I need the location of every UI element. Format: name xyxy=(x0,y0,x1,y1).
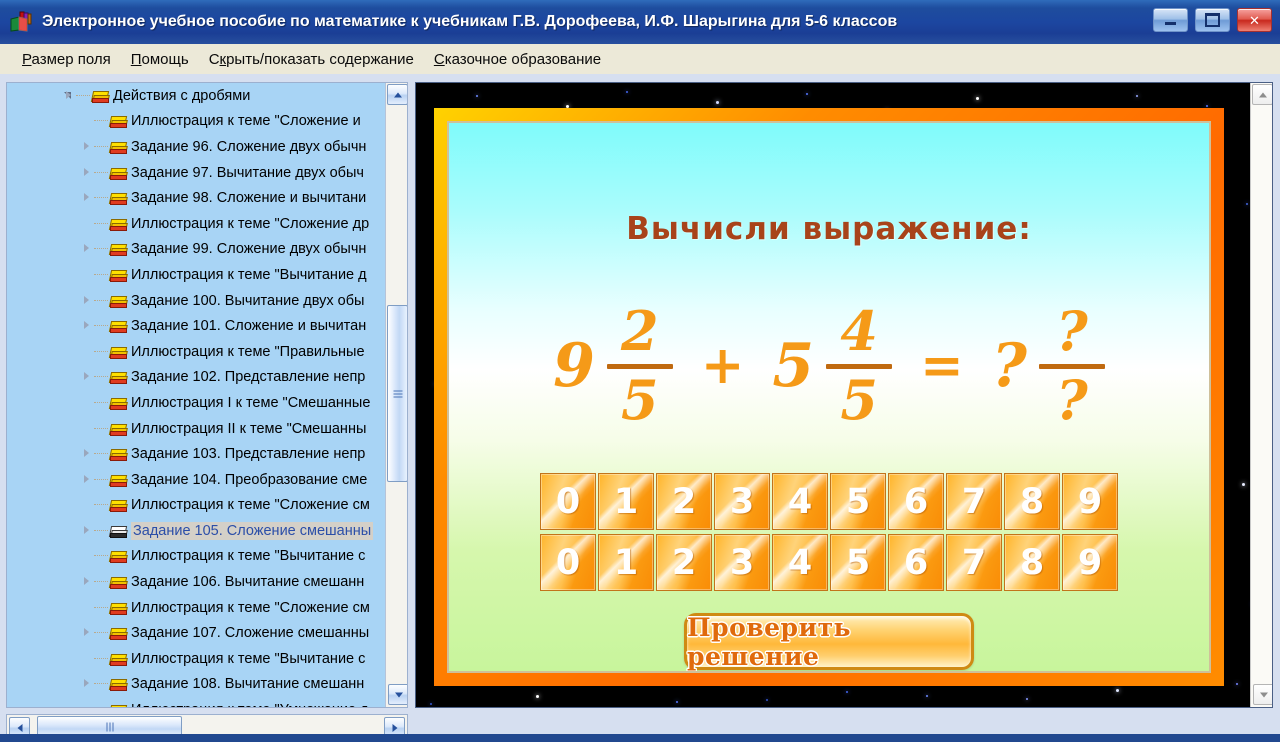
tree-scroll-thumb[interactable] xyxy=(387,305,408,482)
expander-collapsed-icon[interactable] xyxy=(81,192,93,204)
tree-item[interactable]: Задание 107. Сложение смешанны xyxy=(7,620,387,646)
book-icon xyxy=(109,447,126,461)
digit-key-5[interactable]: 5 xyxy=(830,534,886,591)
open-book-icon xyxy=(109,524,126,538)
digit-key-1[interactable]: 1 xyxy=(598,534,654,591)
book-icon xyxy=(109,166,126,180)
maximize-button[interactable] xyxy=(1195,8,1230,32)
digit-key-0[interactable]: 0 xyxy=(540,473,596,530)
book-icon xyxy=(109,498,126,512)
tree-item[interactable]: Иллюстрация к теме "Вычитание с xyxy=(7,544,387,570)
tree-connector xyxy=(94,632,108,634)
keypad-row: 0123456789 xyxy=(540,473,1118,530)
left-whole-number: 9 xyxy=(547,336,601,396)
left-numerator: 2 xyxy=(621,304,659,359)
expander-placeholder xyxy=(81,115,93,127)
star xyxy=(716,101,719,104)
content-scroll-up-button[interactable] xyxy=(1252,84,1273,105)
tree-item-label: Задание 98. Сложение и вычитани xyxy=(131,190,366,206)
star xyxy=(626,91,628,93)
digit-key-6[interactable]: 6 xyxy=(888,534,944,591)
contents-tree[interactable]: Действия с дробямиИллюстрация к теме "Сл… xyxy=(7,83,387,707)
lesson-title: Вычисли выражение: xyxy=(449,211,1209,247)
tree-connector xyxy=(94,120,108,122)
contents-tree-panel: Действия с дробямиИллюстрация к теме "Сл… xyxy=(6,82,408,708)
expander-placeholder xyxy=(81,653,93,665)
tree-item[interactable]: Задание 103. Представление непр xyxy=(7,441,387,467)
digit-key-0[interactable]: 0 xyxy=(540,534,596,591)
books-icon xyxy=(8,9,34,35)
tree-connector xyxy=(94,376,108,378)
book-icon xyxy=(109,626,126,640)
content-scroll-down-button[interactable] xyxy=(1253,684,1273,705)
close-button[interactable]: ✕ xyxy=(1237,8,1272,32)
expander-placeholder xyxy=(81,423,93,435)
tree-item[interactable]: Иллюстрация к теме "Правильные xyxy=(7,339,387,365)
digit-key-7[interactable]: 7 xyxy=(946,534,1002,591)
tree-item[interactable]: Задание 101. Сложение и вычитан xyxy=(7,313,387,339)
tree-item-label: Задание 108. Вычитание смешанн xyxy=(131,676,364,692)
tree-item-label: Задание 100. Вычитание двух обы xyxy=(131,293,364,309)
tree-connector xyxy=(94,402,108,404)
tree-item[interactable]: Задание 108. Вычитание смешанн xyxy=(7,672,387,698)
expander-placeholder xyxy=(81,269,93,281)
window-body: Действия с дробямиИллюстрация к теме "Сл… xyxy=(0,74,1280,742)
expander-collapsed-icon[interactable] xyxy=(81,371,93,383)
book-icon xyxy=(109,575,126,589)
book-icon xyxy=(109,140,126,154)
star xyxy=(536,695,539,698)
tree-item-label: Иллюстрация к теме "Сложение см xyxy=(131,497,370,513)
tree-item[interactable]: Иллюстрация к теме "Сложение и xyxy=(7,109,387,135)
expander-collapsed-icon[interactable] xyxy=(81,678,93,690)
star xyxy=(976,97,979,100)
digit-key-2[interactable]: 2 xyxy=(656,473,712,530)
star xyxy=(1236,683,1238,685)
digit-key-4[interactable]: 4 xyxy=(772,534,828,591)
tree-item[interactable]: Задание 100. Вычитание двух обы xyxy=(7,288,387,314)
expander-collapsed-icon[interactable] xyxy=(81,627,93,639)
answer-numerator-slot[interactable]: ? xyxy=(1056,304,1088,359)
tree-item-label: Задание 104. Преобразование сме xyxy=(131,472,367,488)
expander-expanded-icon[interactable] xyxy=(63,90,75,102)
tree-item[interactable]: Задание 102. Представление непр xyxy=(7,365,387,391)
digit-key-5[interactable]: 5 xyxy=(830,473,886,530)
tree-item-label: Иллюстрация к теме "Вычитание с xyxy=(131,548,365,564)
tree-item-label: Задание 96. Сложение двух обычн xyxy=(131,139,366,155)
tree-scroll-up-button[interactable] xyxy=(387,84,408,105)
tree-item-label: Иллюстрация к теме "Вычитание д xyxy=(131,267,367,283)
star xyxy=(676,701,678,703)
digit-key-2[interactable]: 2 xyxy=(656,534,712,591)
tree-item-label: Иллюстрация к теме "Вычитание с xyxy=(131,651,365,667)
math-expression: 9 2 5 + 5 4 5 = xyxy=(449,301,1209,431)
tree-item[interactable]: Иллюстрация I к теме "Смешанные xyxy=(7,390,387,416)
expander-collapsed-icon[interactable] xyxy=(81,141,93,153)
tree-connector xyxy=(94,146,108,148)
minimize-button[interactable] xyxy=(1153,8,1188,32)
book-icon xyxy=(109,601,126,615)
tree-item-label: Задание 106. Вычитание смешанн xyxy=(131,574,364,590)
tree-item-label: Иллюстрация к теме "Правильные xyxy=(131,344,365,360)
expander-collapsed-icon[interactable] xyxy=(81,525,93,537)
tree-item[interactable]: Иллюстрация к теме "Умножение д xyxy=(7,697,387,707)
expander-placeholder xyxy=(81,704,93,707)
tree-item[interactable]: Иллюстрация II к теме "Смешанны xyxy=(7,416,387,442)
tree-connector xyxy=(94,351,108,353)
tree-item[interactable]: Задание 98. Сложение и вычитани xyxy=(7,185,387,211)
digit-key-9[interactable]: 9 xyxy=(1062,534,1118,591)
book-icon xyxy=(109,345,126,359)
tree-vertical-scrollbar[interactable] xyxy=(385,83,407,707)
keypad-row: 0123456789 xyxy=(540,534,1118,591)
right-fraction: 4 5 xyxy=(820,304,898,427)
book-icon xyxy=(109,217,126,231)
tree-connector xyxy=(94,223,108,225)
digit-key-1[interactable]: 1 xyxy=(598,473,654,530)
tree-connector xyxy=(94,428,108,430)
digit-key-8[interactable]: 8 xyxy=(1004,534,1060,591)
star xyxy=(1246,203,1248,205)
tree-scroll-down-button[interactable] xyxy=(388,684,408,705)
tree-item[interactable]: Иллюстрация к теме "Сложение др xyxy=(7,211,387,237)
close-icon: ✕ xyxy=(1238,9,1271,31)
tree-connector xyxy=(76,95,90,97)
answer-whole-slot[interactable]: ? xyxy=(986,336,1033,396)
tree-item-label: Задание 101. Сложение и вычитан xyxy=(131,318,366,334)
expander-collapsed-icon[interactable] xyxy=(81,448,93,460)
digit-key-8[interactable]: 8 xyxy=(1004,473,1060,530)
right-whole-number: 5 xyxy=(766,336,820,396)
window-bottom-edge xyxy=(0,734,1280,742)
tree-item-label: Иллюстрация к теме "Сложение и xyxy=(131,113,361,129)
digit-keypad: 01234567890123456789 xyxy=(449,473,1209,591)
book-icon xyxy=(109,677,126,691)
tree-item-label: Иллюстрация I к теме "Смешанные xyxy=(131,395,370,411)
tree-item-label: Задание 99. Сложение двух обычн xyxy=(131,241,366,257)
tree-item-label: Задание 103. Представление непр xyxy=(131,446,365,462)
window-title: Электронное учебное пособие по математик… xyxy=(42,13,897,31)
tree-item-label: Иллюстрация II к теме "Смешанны xyxy=(131,421,366,437)
book-icon xyxy=(109,703,126,707)
digit-key-7[interactable]: 7 xyxy=(946,473,1002,530)
book-icon xyxy=(109,396,126,410)
tree-item-label: Действия с дробями xyxy=(113,88,250,104)
tree-item-label: Задание 97. Вычитание двух обыч xyxy=(131,165,364,181)
book-icon xyxy=(109,549,126,563)
star xyxy=(1026,698,1028,700)
left-denominator: 5 xyxy=(621,373,659,428)
expander-placeholder xyxy=(81,499,93,511)
tree-item[interactable]: Иллюстрация к теме "Сложение см xyxy=(7,493,387,519)
expander-placeholder xyxy=(81,550,93,562)
expander-placeholder xyxy=(81,346,93,358)
title-bar: Электронное учебное пособие по математик… xyxy=(0,0,1280,44)
tree-connector xyxy=(94,683,108,685)
book-icon xyxy=(109,114,126,128)
star xyxy=(846,691,848,693)
tree-connector xyxy=(94,479,108,481)
tree-item[interactable]: Иллюстрация к теме "Вычитание с xyxy=(7,646,387,672)
digit-key-3[interactable]: 3 xyxy=(714,534,770,591)
tree-item[interactable]: Задание 105. Сложение смешанны xyxy=(7,518,387,544)
tree-connector xyxy=(94,607,108,609)
plus-operator: + xyxy=(679,340,767,392)
star xyxy=(430,703,432,705)
tree-connector xyxy=(94,504,108,506)
tree-connector xyxy=(94,658,108,660)
check-solution-label: Проверить решение xyxy=(687,613,971,671)
left-fraction: 2 5 xyxy=(601,304,679,427)
tree-item-selected-label: Задание 105. Сложение смешанны xyxy=(131,522,373,540)
expander-collapsed-icon[interactable] xyxy=(81,295,93,307)
star xyxy=(1136,95,1138,97)
answer-denominator-slot[interactable]: ? xyxy=(1056,373,1088,428)
tree-connector xyxy=(94,248,108,250)
expander-collapsed-icon[interactable] xyxy=(81,167,93,179)
menu-item-fairy-education[interactable]: Сказочное образование xyxy=(424,48,611,71)
star xyxy=(806,93,808,95)
star xyxy=(1206,105,1208,107)
lesson-slide: Вычисли выражение: 9 2 5 + 5 4 xyxy=(447,121,1211,673)
expander-collapsed-icon[interactable] xyxy=(81,320,93,332)
tree-item[interactable]: Иллюстрация к теме "Вычитание д xyxy=(7,262,387,288)
menu-item-field-size[interactable]: Размер поля xyxy=(12,48,121,71)
tree-connector xyxy=(94,300,108,302)
star xyxy=(1116,689,1119,692)
book-icon xyxy=(91,89,108,103)
tree-item[interactable]: Иллюстрация к теме "Сложение см xyxy=(7,595,387,621)
content-vertical-scrollbar[interactable] xyxy=(1250,83,1272,707)
menu-bar: Размер поля Помощь Скрыть/показать содер… xyxy=(0,44,1280,74)
tree-connector xyxy=(94,197,108,199)
tree-connector xyxy=(94,172,108,174)
check-button-row: Проверить решение xyxy=(449,613,1209,670)
right-numerator: 4 xyxy=(840,304,878,359)
menu-item-help[interactable]: Помощь xyxy=(121,48,199,71)
right-denominator: 5 xyxy=(840,373,878,428)
tree-item[interactable]: Задание 97. Вычитание двух обыч xyxy=(7,160,387,186)
tree-connector xyxy=(94,581,108,583)
star xyxy=(766,699,768,701)
star xyxy=(1242,483,1245,486)
lesson-slide-frame: Вычисли выражение: 9 2 5 + 5 4 xyxy=(434,108,1224,686)
digit-key-4[interactable]: 4 xyxy=(772,473,828,530)
book-icon xyxy=(109,242,126,256)
book-icon xyxy=(109,294,126,308)
tree-item-label: Иллюстрация к теме "Сложение см xyxy=(131,600,370,616)
digit-key-3[interactable]: 3 xyxy=(714,473,770,530)
book-icon xyxy=(109,370,126,384)
tree-item[interactable]: Задание 104. Преобразование сме xyxy=(7,467,387,493)
expander-placeholder xyxy=(81,218,93,230)
tree-connector xyxy=(94,530,108,532)
tree-item-label: Задание 107. Сложение смешанны xyxy=(131,625,369,641)
book-icon xyxy=(109,652,126,666)
tree-item[interactable]: Действия с дробями xyxy=(7,83,387,109)
answer-fraction: ? ? xyxy=(1033,304,1111,427)
star xyxy=(476,95,478,97)
check-solution-button[interactable]: Проверить решение xyxy=(684,613,974,670)
tree-connector xyxy=(94,325,108,327)
expander-collapsed-icon[interactable] xyxy=(81,576,93,588)
lesson-content-panel: Вычисли выражение: 9 2 5 + 5 4 xyxy=(415,82,1273,708)
tree-connector xyxy=(94,453,108,455)
book-icon xyxy=(109,268,126,282)
equals-operator: = xyxy=(898,340,986,392)
tree-item[interactable]: Задание 106. Вычитание смешанн xyxy=(7,569,387,595)
application-window: Электронное учебное пособие по математик… xyxy=(0,0,1280,742)
tree-item-label: Задание 105. Сложение смешанны xyxy=(131,522,373,540)
tree-connector xyxy=(94,274,108,276)
expander-collapsed-icon[interactable] xyxy=(81,474,93,486)
book-icon xyxy=(109,473,126,487)
tree-item-label: Задание 102. Представление непр xyxy=(131,369,365,385)
expander-collapsed-icon[interactable] xyxy=(81,243,93,255)
tree-item-label: Иллюстрация к теме "Умножение д xyxy=(131,702,369,707)
expander-placeholder xyxy=(81,397,93,409)
window-controls: ✕ xyxy=(1153,8,1272,32)
expander-placeholder xyxy=(81,602,93,614)
tree-connector xyxy=(94,555,108,557)
book-icon xyxy=(109,191,126,205)
menu-item-toggle-contents[interactable]: Скрыть/показать содержание xyxy=(199,48,424,71)
tree-item[interactable]: Задание 99. Сложение двух обычн xyxy=(7,237,387,263)
digit-key-6[interactable]: 6 xyxy=(888,473,944,530)
tree-item[interactable]: Задание 96. Сложение двух обычн xyxy=(7,134,387,160)
book-icon xyxy=(109,422,126,436)
book-icon xyxy=(109,319,126,333)
star xyxy=(926,695,928,697)
digit-key-9[interactable]: 9 xyxy=(1062,473,1118,530)
tree-item-label: Иллюстрация к теме "Сложение др xyxy=(131,216,369,232)
